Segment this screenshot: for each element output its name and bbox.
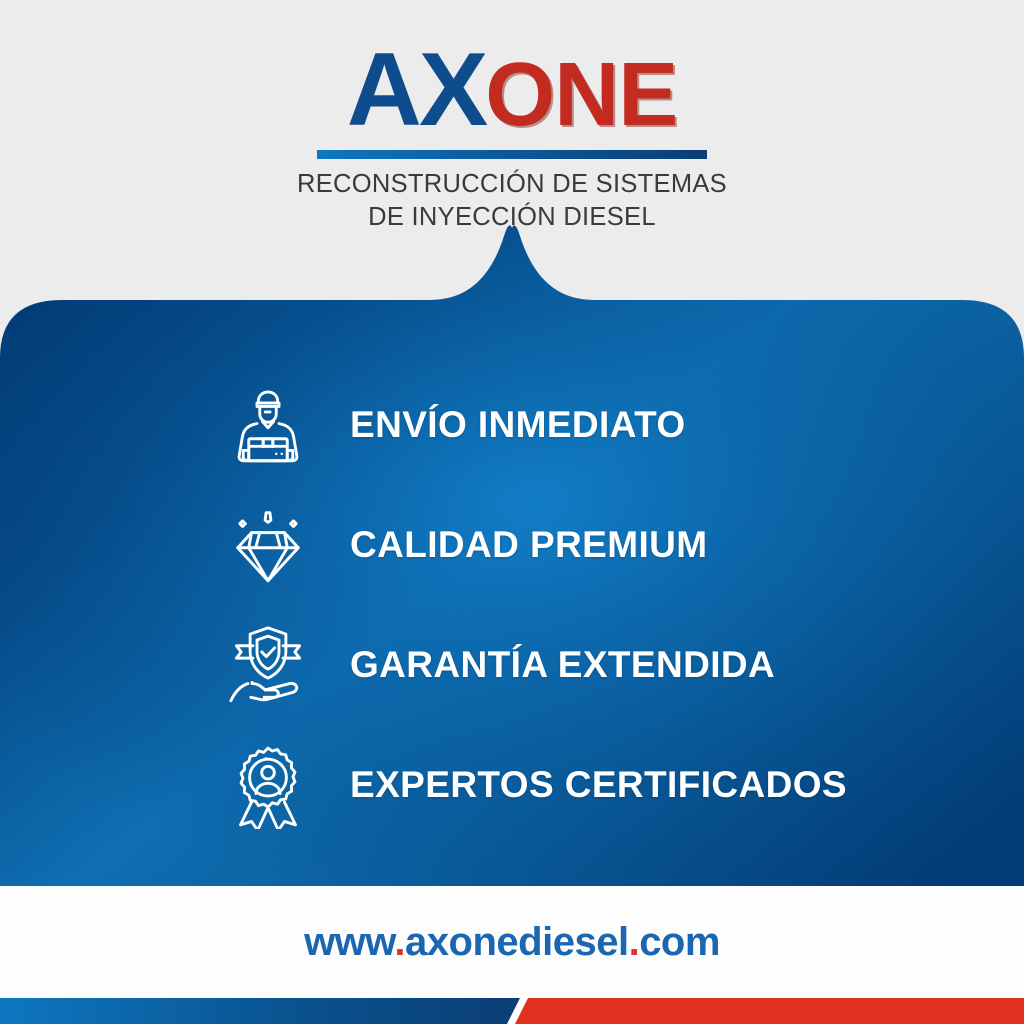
feature-label-garantia-extendida: GARANTÍA EXTENDIDA (350, 644, 775, 686)
brand-tagline-line-1: RECONSTRUCCIÓN DE SISTEMAS (297, 168, 727, 201)
feature-item-garantia-extendida[interactable]: GARANTÍA EXTENDIDA (0, 605, 1024, 725)
website-url-link[interactable]: www.axonediesel.com (304, 920, 720, 965)
website-dot-2: . (629, 920, 640, 964)
website-prefix: www (304, 920, 394, 964)
feature-item-envio-inmediato[interactable]: ENVÍO INMEDIATO (0, 365, 1024, 485)
feature-label-expertos-certificados: EXPERTOS CERTIFICADOS (350, 764, 847, 806)
feature-item-calidad-premium[interactable]: CALIDAD PREMIUM (0, 485, 1024, 605)
brand-wordmark: AXONE (347, 38, 678, 142)
website-band: www.axonediesel.com (0, 886, 1024, 998)
logo-divider-rule (317, 150, 707, 159)
website-tld: com (639, 920, 720, 964)
feature-item-expertos-certificados[interactable]: EXPERTOS CERTIFICADOS (0, 725, 1024, 845)
feature-label-envio-inmediato: ENVÍO INMEDIATO (350, 404, 686, 446)
footer-accent-bar (0, 998, 1024, 1024)
diamond-icon (222, 499, 314, 591)
website-dot-1: . (394, 920, 405, 964)
delivery-person-box-icon (222, 379, 314, 471)
footer-accent-bar-shape (0, 998, 1024, 1024)
brand-name-one: ONE (485, 45, 677, 145)
brand-name-ax: AX (347, 32, 485, 148)
shield-check-hand-icon (222, 619, 314, 711)
website-domain: axonediesel (405, 920, 629, 964)
feature-label-calidad-premium: CALIDAD PREMIUM (350, 524, 707, 566)
promo-poster: AXONE RECONSTRUCCIÓN DE SISTEMAS DE INYE… (0, 0, 1024, 1024)
feature-list: ENVÍO INMEDIATO CALIDAD PREMIUM (0, 365, 1024, 845)
award-badge-person-icon (222, 739, 314, 831)
